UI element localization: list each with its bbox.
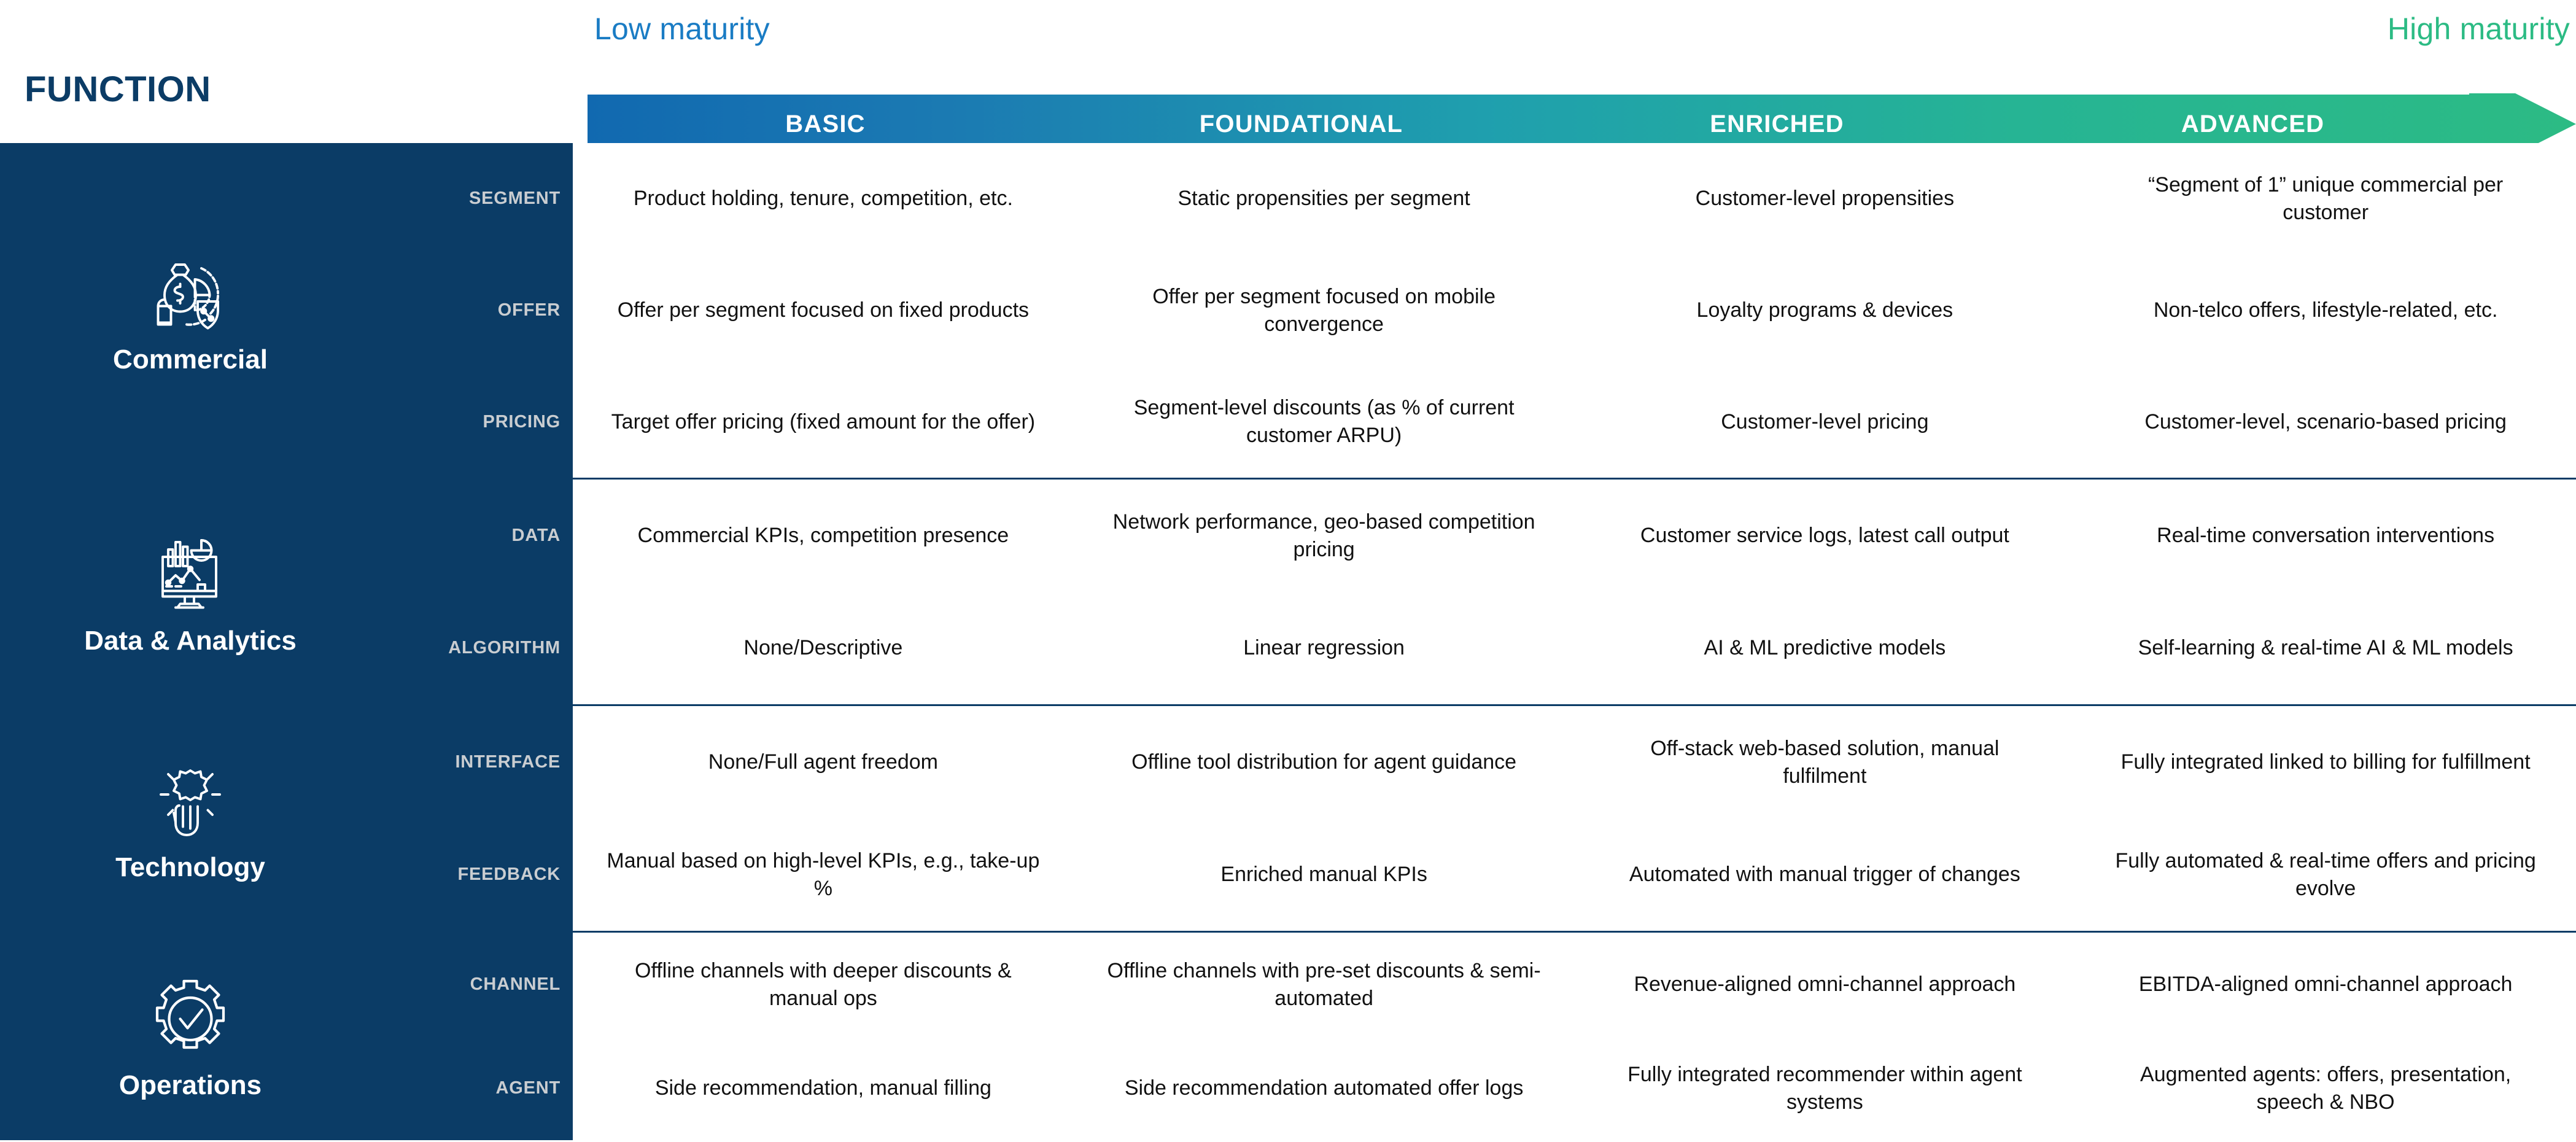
cell-commercial-offer-foundational: Offer per segment focused on mobile conv…: [1074, 255, 1575, 367]
cell-commercial-segment-enriched: Customer-level propensities: [1575, 143, 2076, 255]
cell-commercial-pricing-enriched: Customer-level pricing: [1575, 366, 2076, 478]
maturity-matrix-slide: Low maturity High maturity FUNCTION BASI…: [0, 0, 2576, 1142]
page-title: FUNCTION: [25, 72, 211, 107]
cell-data-data-foundational: Network performance, geo-based competiti…: [1074, 480, 1575, 592]
cell-commercial-segment-advanced: “Segment of 1” unique commercial per cus…: [2075, 143, 2576, 255]
cell-operations-agent-foundational: Side recommendation automated offer logs: [1074, 1036, 1575, 1140]
cell-operations-agent-advanced: Augmented agents: offers, presentation, …: [2075, 1036, 2576, 1140]
function-identity-commercial: Commercial: [0, 143, 381, 478]
dimension-label-data: DATA: [381, 480, 573, 592]
dimension-label-channel: CHANNEL: [381, 933, 573, 1036]
matrix-cells-operations: Offline channels with deeper discounts &…: [573, 933, 2576, 1140]
matrix-row-operations: Operations CHANNEL AGENT Offline channel…: [0, 933, 2576, 1140]
cell-data-algorithm-foundational: Linear regression: [1074, 592, 1575, 704]
table-row: Commercial KPIs, competition presence Ne…: [573, 480, 2576, 592]
function-panel-commercial: Commercial SEGMENT OFFER PRICING: [0, 143, 573, 478]
cell-technology-feedback-foundational: Enriched manual KPIs: [1074, 818, 1575, 931]
cell-operations-channel-advanced: EBITDA-aligned omni-channel approach: [2075, 933, 2576, 1036]
cell-technology-feedback-enriched: Automated with manual trigger of changes: [1575, 818, 2076, 931]
cell-data-data-basic: Commercial KPIs, competition presence: [573, 480, 1074, 592]
cell-data-algorithm-advanced: Self-learning & real-time AI & ML models: [2075, 592, 2576, 704]
maturity-matrix-body: Commercial SEGMENT OFFER PRICING Product…: [0, 143, 2576, 1142]
matrix-cells-technology: None/Full agent freedom Offline tool dis…: [573, 706, 2576, 931]
function-identity-operations: Operations: [0, 933, 381, 1140]
function-name-technology: Technology: [115, 854, 265, 881]
cell-commercial-segment-foundational: Static propensities per segment: [1074, 143, 1575, 255]
cell-technology-interface-enriched: Off-stack web-based solution, manual ful…: [1575, 706, 2076, 818]
cell-commercial-pricing-foundational: Segment-level discounts (as % of current…: [1074, 366, 1575, 478]
dimension-label-feedback: FEEDBACK: [381, 818, 573, 931]
table-row: Product holding, tenure, competition, et…: [573, 143, 2576, 255]
cell-technology-feedback-advanced: Fully automated & real-time offers and p…: [2075, 818, 2576, 931]
cell-commercial-offer-advanced: Non-telco offers, lifestyle-related, etc…: [2075, 255, 2576, 367]
function-name-commercial: Commercial: [113, 346, 268, 373]
cell-technology-interface-advanced: Fully integrated linked to billing for f…: [2075, 706, 2576, 818]
table-row: Target offer pricing (fixed amount for t…: [573, 366, 2576, 478]
cell-operations-channel-enriched: Revenue-aligned omni-channel approach: [1575, 933, 2076, 1036]
cell-operations-channel-basic: Offline channels with deeper discounts &…: [573, 933, 1074, 1036]
cell-operations-agent-basic: Side recommendation, manual filling: [573, 1036, 1074, 1140]
dimension-label-algorithm: ALGORITHM: [381, 592, 573, 704]
dimension-labels-technology: INTERFACE FEEDBACK: [381, 706, 573, 931]
matrix-row-technology: Technology INTERFACE FEEDBACK None/Full …: [0, 706, 2576, 933]
table-row: Offer per segment focused on fixed produ…: [573, 255, 2576, 367]
high-maturity-label: High maturity: [2388, 14, 2570, 44]
dimension-labels-commercial: SEGMENT OFFER PRICING: [381, 143, 573, 478]
function-name-data-analytics: Data & Analytics: [84, 627, 297, 655]
cell-operations-channel-foundational: Offline channels with pre-set discounts …: [1074, 933, 1575, 1036]
gear-check-icon: [144, 974, 236, 1066]
function-identity-technology: Technology: [0, 706, 381, 931]
dimension-labels-data-analytics: DATA ALGORITHM: [381, 480, 573, 704]
money-bag-pie-chart-icon: [144, 248, 236, 340]
function-panel-operations: Operations CHANNEL AGENT: [0, 933, 573, 1140]
matrix-row-data-analytics: Data & Analytics DATA ALGORITHM Commerci…: [0, 480, 2576, 706]
table-row: Side recommendation, manual filling Side…: [573, 1036, 2576, 1140]
function-panel-technology: Technology INTERFACE FEEDBACK: [0, 706, 573, 931]
cell-data-algorithm-basic: None/Descriptive: [573, 592, 1074, 704]
function-panel-data-analytics: Data & Analytics DATA ALGORITHM: [0, 480, 573, 704]
cell-commercial-segment-basic: Product holding, tenure, competition, et…: [573, 143, 1074, 255]
cell-data-data-advanced: Real-time conversation interventions: [2075, 480, 2576, 592]
matrix-cells-data-analytics: Commercial KPIs, competition presence Ne…: [573, 480, 2576, 704]
cell-technology-feedback-basic: Manual based on high-level KPIs, e.g., t…: [573, 818, 1074, 931]
dimension-label-agent: AGENT: [381, 1036, 573, 1140]
dimension-labels-operations: CHANNEL AGENT: [381, 933, 573, 1140]
dimension-label-segment: SEGMENT: [381, 143, 573, 255]
cell-data-algorithm-enriched: AI & ML predictive models: [1575, 592, 2076, 704]
cell-commercial-offer-basic: Offer per segment focused on fixed produ…: [573, 255, 1074, 367]
cell-data-data-enriched: Customer service logs, latest call outpu…: [1575, 480, 2076, 592]
table-row: Manual based on high-level KPIs, e.g., t…: [573, 818, 2576, 931]
matrix-cells-commercial: Product holding, tenure, competition, et…: [573, 143, 2576, 478]
gear-spark-hand-icon: [144, 756, 236, 848]
table-row: None/Full agent freedom Offline tool dis…: [573, 706, 2576, 818]
cell-operations-agent-enriched: Fully integrated recommender within agen…: [1575, 1036, 2076, 1140]
table-row: None/Descriptive Linear regression AI & …: [573, 592, 2576, 704]
table-row: Offline channels with deeper discounts &…: [573, 933, 2576, 1036]
cell-commercial-pricing-advanced: Customer-level, scenario-based pricing: [2075, 366, 2576, 478]
dimension-label-pricing: PRICING: [381, 366, 573, 478]
dimension-label-interface: INTERFACE: [381, 706, 573, 818]
monitor-analytics-icon: [144, 529, 236, 621]
function-name-operations: Operations: [119, 1072, 262, 1099]
matrix-row-commercial: Commercial SEGMENT OFFER PRICING Product…: [0, 143, 2576, 480]
cell-commercial-offer-enriched: Loyalty programs & devices: [1575, 255, 2076, 367]
dimension-label-offer: OFFER: [381, 255, 573, 367]
cell-technology-interface-foundational: Offline tool distribution for agent guid…: [1074, 706, 1575, 818]
cell-commercial-pricing-basic: Target offer pricing (fixed amount for t…: [573, 366, 1074, 478]
cell-technology-interface-basic: None/Full agent freedom: [573, 706, 1074, 818]
function-identity-data-analytics: Data & Analytics: [0, 480, 381, 704]
low-maturity-label: Low maturity: [594, 14, 770, 44]
